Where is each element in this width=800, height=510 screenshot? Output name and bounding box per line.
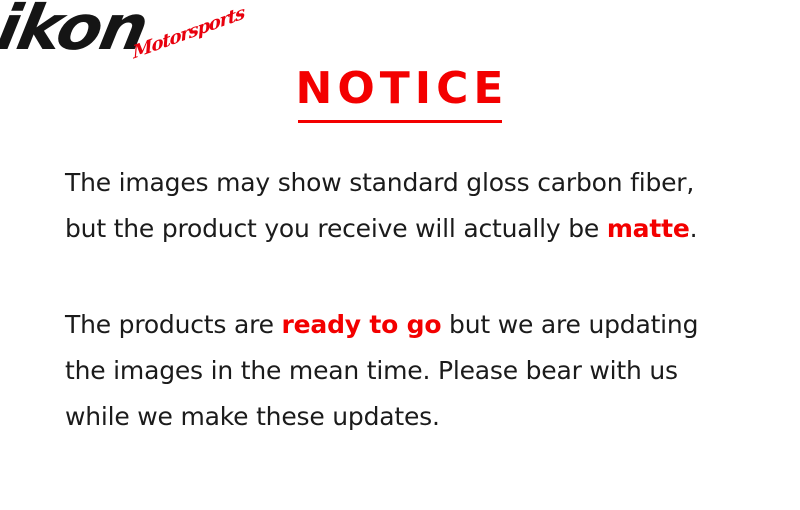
line-text: while we make these updates. xyxy=(65,402,440,431)
notice-paragraph: The products are ready to go but we are … xyxy=(65,302,765,440)
page-title: NOTICE xyxy=(288,66,513,112)
notice-line: but the product you receive will actuall… xyxy=(65,206,765,252)
line-text-post: . xyxy=(690,214,698,243)
notice-paragraph: The images may show standard gloss carbo… xyxy=(65,160,765,252)
line-text: the images in the mean time. Please bear… xyxy=(65,356,678,385)
title-underline-rule xyxy=(298,120,502,123)
line-text: The images may show standard gloss carbo… xyxy=(65,168,694,197)
line-highlight: matte xyxy=(607,214,690,243)
notice-heading-block: NOTICE xyxy=(0,66,800,123)
brand-wordmark-ikon: ikon xyxy=(0,0,151,59)
line-text: but the product you receive will actuall… xyxy=(65,214,607,243)
notice-line: while we make these updates. xyxy=(65,394,765,440)
brand-logo: ikon Motorsports xyxy=(0,0,250,76)
notice-line: The images may show standard gloss carbo… xyxy=(65,160,765,206)
brand-script-motorsports: Motorsports xyxy=(132,4,245,62)
notice-page: ikon Motorsports NOTICE The images may s… xyxy=(0,0,800,510)
line-text: The products are xyxy=(65,310,282,339)
notice-line: the images in the mean time. Please bear… xyxy=(65,348,765,394)
line-highlight: ready to go xyxy=(282,310,442,339)
notice-line: The products are ready to go but we are … xyxy=(65,302,765,348)
line-text-post: but we are updating xyxy=(441,310,698,339)
notice-body: The images may show standard gloss carbo… xyxy=(65,160,765,440)
